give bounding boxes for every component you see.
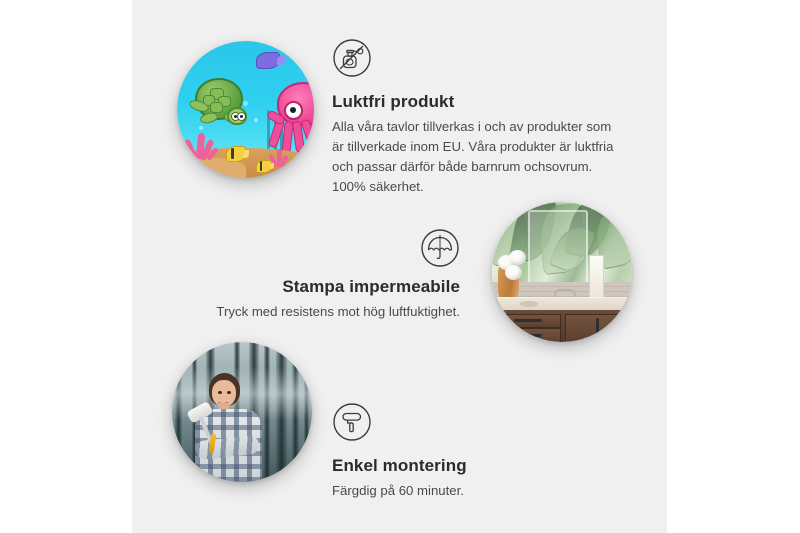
feature-description: Tryck med resistens mot hög luftfuktighe… <box>170 302 460 322</box>
ocean-scene <box>177 41 314 178</box>
bathroom-scene <box>492 202 632 342</box>
white-rose <box>505 265 522 280</box>
underwater-cartoon-mural <box>177 41 314 178</box>
feature-odour-free: Luktfri produkt Alla våra tavlor tillver… <box>332 38 622 197</box>
promo-banner: Luktfri produkt Alla våra tavlor tillver… <box>0 0 800 533</box>
mirror <box>528 210 588 287</box>
white-rose <box>509 250 526 265</box>
feature-easy-installation: Enkel montering Färgdig på 60 minuter. <box>332 402 622 501</box>
feature-image-waterproof-print <box>492 202 632 342</box>
umbrella-icon <box>170 228 460 268</box>
yellow-fish-2 <box>256 160 272 173</box>
woman <box>192 373 270 482</box>
feature-description: Alla våra tavlor tillverkas i och av pro… <box>332 117 622 197</box>
turtle <box>189 78 249 127</box>
no-fragrance-icon <box>332 38 622 83</box>
feature-image-easy-installation <box>172 342 312 482</box>
forest-mural <box>172 342 312 482</box>
feature-description: Färgdig på 60 minuter. <box>332 481 622 501</box>
feature-title: Stampa impermeabile <box>170 277 460 297</box>
blue-fish <box>256 52 280 69</box>
feature-waterproof-print: Stampa impermeabile Tryck med resistens … <box>170 228 460 322</box>
countertop <box>492 297 632 311</box>
wooden-vanity <box>492 310 632 342</box>
soap-dispenser <box>589 255 604 299</box>
feature-title: Luktfri produkt <box>332 92 622 112</box>
pink-coral <box>180 129 218 170</box>
octopus <box>267 82 314 153</box>
soap-dish <box>520 301 538 307</box>
yellow-fish-1 <box>226 146 246 162</box>
bathroom-tropical-wallpaper <box>492 202 632 342</box>
paint-roller-icon <box>332 402 622 447</box>
woman-with-paint-roller-forest-mural <box>172 342 312 482</box>
feature-title: Enkel montering <box>332 456 622 476</box>
feature-image-odour-free <box>177 41 314 178</box>
